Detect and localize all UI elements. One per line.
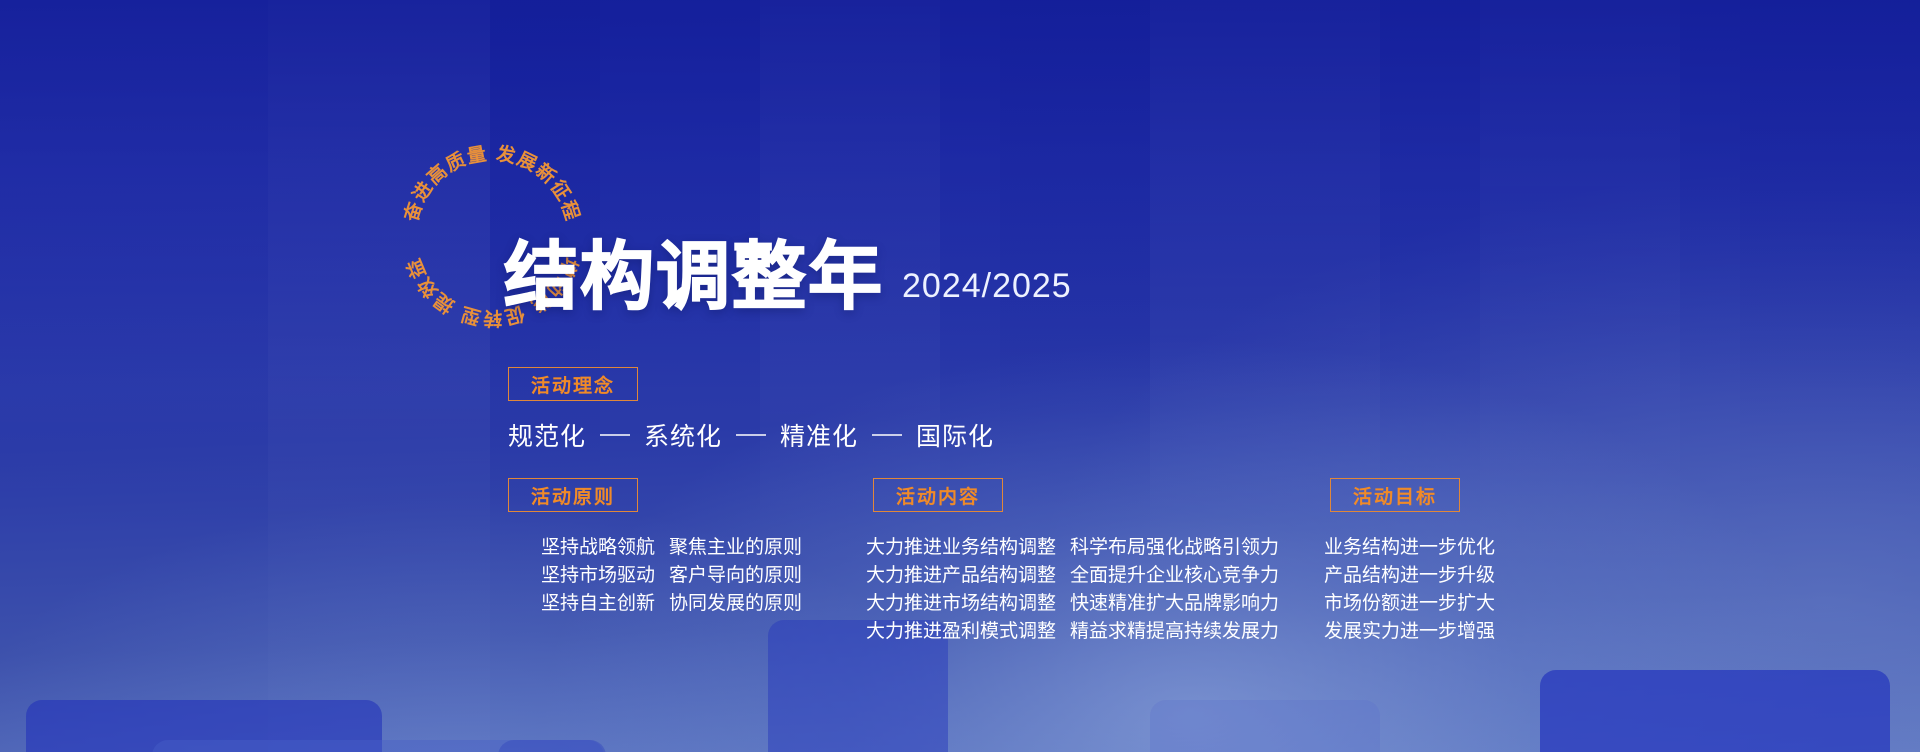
emblem-arc-top-text: 奋进高质量 发展新征程 bbox=[399, 142, 584, 226]
concept-dash-icon-0 bbox=[600, 434, 630, 436]
goal-2: 市场份额进一步扩大 bbox=[1324, 590, 1495, 618]
badge-concept-label: 活动理念 bbox=[531, 371, 615, 398]
concept-item-1: 系统化 bbox=[644, 417, 722, 453]
list-item: 坚持市场驱动 客户导向的原则 bbox=[541, 562, 802, 590]
content-right-2: 快速精准扩大品牌影响力 bbox=[1070, 590, 1279, 618]
badge-goals-label: 活动目标 bbox=[1353, 482, 1437, 509]
badge-goals: 活动目标 bbox=[1330, 478, 1460, 512]
goal-1: 产品结构进一步升级 bbox=[1324, 562, 1495, 590]
column-content: 大力推进业务结构调整 科学布局强化战略引领力 大力推进产品结构调整 全面提升企业… bbox=[866, 534, 1279, 646]
title-year: 2024/2025 bbox=[902, 267, 1072, 314]
content-right-1: 全面提升企业核心竞争力 bbox=[1070, 562, 1279, 590]
principle-right-0: 聚焦主业的原则 bbox=[669, 534, 802, 562]
badge-content: 活动内容 bbox=[873, 478, 1003, 512]
list-item: 大力推进盈利模式调整 精益求精提高持续发展力 bbox=[866, 618, 1279, 646]
principle-left-0: 坚持战略领航 bbox=[541, 534, 655, 562]
badge-principles-label: 活动原则 bbox=[531, 482, 615, 509]
principle-left-2: 坚持自主创新 bbox=[541, 590, 655, 618]
concept-items: 规范化 系统化 精准化 国际化 bbox=[508, 417, 994, 453]
concept-dash-icon-2 bbox=[872, 434, 902, 436]
content-right-3: 精益求精提高持续发展力 bbox=[1070, 618, 1279, 646]
content-left-3: 大力推进盈利模式调整 bbox=[866, 618, 1056, 646]
list-item: 大力推进市场结构调整 快速精准扩大品牌影响力 bbox=[866, 590, 1279, 618]
badge-content-label: 活动内容 bbox=[896, 482, 980, 509]
concept-item-0: 规范化 bbox=[508, 417, 586, 453]
page-title: 结构调整年 bbox=[504, 240, 884, 314]
concept-item-2: 精准化 bbox=[780, 417, 858, 453]
principle-left-1: 坚持市场驱动 bbox=[541, 562, 655, 590]
list-item: 大力推进业务结构调整 科学布局强化战略引领力 bbox=[866, 534, 1279, 562]
list-item: 坚持自主创新 协同发展的原则 bbox=[541, 590, 802, 618]
content-left-1: 大力推进产品结构调整 bbox=[866, 562, 1056, 590]
column-goals: 业务结构进一步优化 产品结构进一步升级 市场份额进一步扩大 发展实力进一步增强 bbox=[1324, 534, 1495, 646]
goal-3: 发展实力进一步增强 bbox=[1324, 618, 1495, 646]
concept-item-3: 国际化 bbox=[916, 417, 994, 453]
principle-right-2: 协同发展的原则 bbox=[669, 590, 802, 618]
list-item: 坚持战略领航 聚焦主业的原则 bbox=[541, 534, 802, 562]
list-item: 业务结构进一步优化 bbox=[1324, 534, 1495, 562]
list-item: 市场份额进一步扩大 bbox=[1324, 590, 1495, 618]
column-principles: 坚持战略领航 聚焦主业的原则 坚持市场驱动 客户导向的原则 坚持自主创新 协同发… bbox=[541, 534, 802, 618]
title-block: 结构调整年 2024/2025 bbox=[504, 240, 1072, 314]
principle-right-1: 客户导向的原则 bbox=[669, 562, 802, 590]
content-left-2: 大力推进市场结构调整 bbox=[866, 590, 1056, 618]
goal-0: 业务结构进一步优化 bbox=[1324, 534, 1495, 562]
poster-canvas: 奋进高质量 发展新征程 增动能 促转型 提效益 结构调整年 2024/2025 … bbox=[0, 0, 1920, 752]
badge-principles: 活动原则 bbox=[508, 478, 638, 512]
badge-concept: 活动理念 bbox=[508, 367, 638, 401]
content-right-0: 科学布局强化战略引领力 bbox=[1070, 534, 1279, 562]
list-item: 大力推进产品结构调整 全面提升企业核心竞争力 bbox=[866, 562, 1279, 590]
list-item: 产品结构进一步升级 bbox=[1324, 562, 1495, 590]
concept-dash-icon-1 bbox=[736, 434, 766, 436]
list-item: 发展实力进一步增强 bbox=[1324, 618, 1495, 646]
content-left-0: 大力推进业务结构调整 bbox=[866, 534, 1056, 562]
